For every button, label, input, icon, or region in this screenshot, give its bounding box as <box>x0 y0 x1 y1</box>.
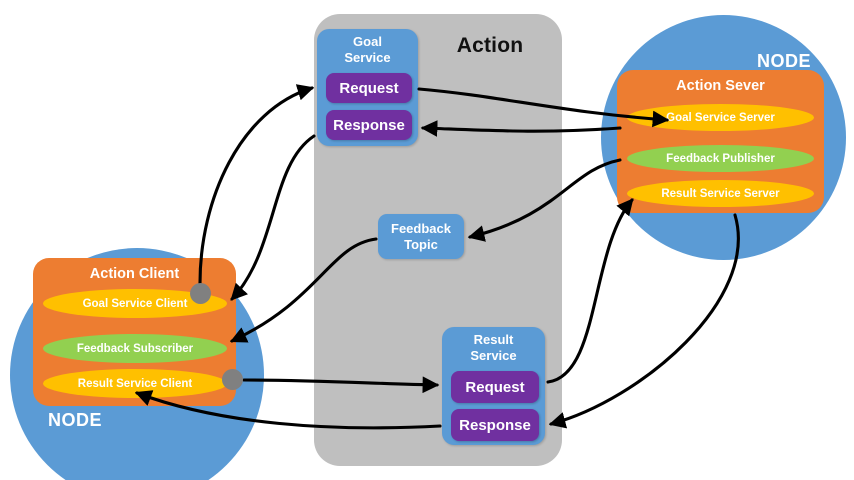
entity-result-service-client: Result Service Client <box>43 369 227 398</box>
goal-service-title: Goal Service <box>317 34 418 66</box>
action-panel-title: Action <box>430 34 550 58</box>
result-service-request-chip: Request <box>451 371 539 403</box>
result-service-title: Result Service <box>442 332 545 364</box>
action-client-box: Action Client Goal Service Client Feedba… <box>33 258 236 406</box>
diagram-canvas: Action NODE NODE Action Client Goal Serv… <box>0 0 854 480</box>
goal-service-response-chip: Response <box>326 110 412 140</box>
feedback-topic-label: Feedback Topic <box>391 221 451 253</box>
result-service-response-chip: Response <box>451 409 539 441</box>
goal-service-title-line1: Goal <box>353 34 382 49</box>
feedback-topic-line2: Topic <box>404 237 438 252</box>
node-label-server: NODE <box>757 51 811 72</box>
connector-dot-result-client <box>222 369 243 390</box>
result-service-title-line2: Service <box>470 348 516 363</box>
action-server-box: Action Sever Goal Service Server Feedbac… <box>617 70 824 213</box>
feedback-topic-line1: Feedback <box>391 221 451 236</box>
action-server-title: Action Sever <box>617 78 824 94</box>
entity-result-service-server: Result Service Server <box>627 180 814 207</box>
goal-service-box: Goal Service Request Response <box>317 29 418 146</box>
entity-feedback-publisher: Feedback Publisher <box>627 145 814 172</box>
result-service-title-line1: Result <box>474 332 514 347</box>
feedback-topic-box: Feedback Topic <box>378 214 464 259</box>
connector-dot-goal-client <box>190 283 211 304</box>
goal-service-request-chip: Request <box>326 73 412 103</box>
entity-goal-service-server: Goal Service Server <box>627 104 814 131</box>
arrow-goal-client-to-goal-request <box>200 88 312 283</box>
action-client-title: Action Client <box>33 266 236 282</box>
node-label-client: NODE <box>48 410 102 431</box>
result-service-box: Result Service Request Response <box>442 327 545 445</box>
arrow-goal-response-to-goal-client <box>232 136 314 299</box>
goal-service-title-line2: Service <box>344 50 390 65</box>
entity-feedback-subscriber: Feedback Subscriber <box>43 334 227 363</box>
